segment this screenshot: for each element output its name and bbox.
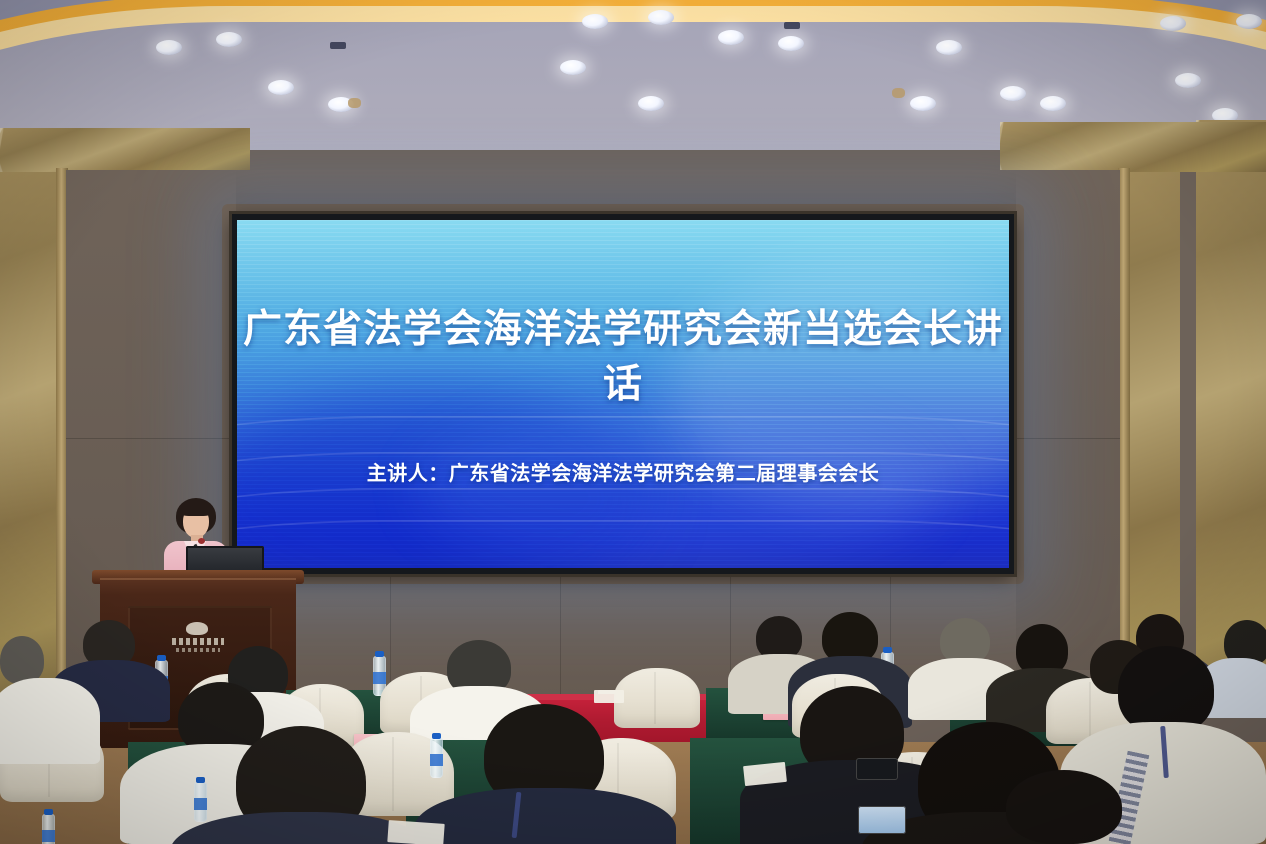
ceiling-downlight	[1000, 86, 1026, 101]
bottle-cap	[44, 809, 53, 815]
wall-panel-center-top	[236, 170, 1016, 216]
audience-head	[1118, 646, 1214, 734]
ceiling-downlight	[582, 14, 608, 29]
bottle-cap	[432, 733, 441, 739]
wall-panel-seam	[560, 572, 561, 712]
wall-panel-seam	[1012, 438, 1120, 439]
chair-cover	[614, 668, 700, 728]
smartphone[interactable]	[858, 806, 906, 834]
conference-hall-photo: 广东省法学会海洋法学研究会新当选会长讲话 主讲人：广东省法学会海洋法学研究会第二…	[0, 0, 1266, 844]
audience-head	[1006, 770, 1122, 844]
wall-panel-seam	[66, 438, 236, 439]
marble-column-left	[0, 128, 62, 712]
slide-wave-line	[237, 520, 1009, 568]
smoke-detector-icon	[348, 98, 361, 108]
podium-emblem-mark	[186, 622, 208, 635]
water-bottle[interactable]	[194, 782, 207, 822]
ceiling-downlight	[778, 36, 804, 51]
podium-emblem-text	[172, 638, 224, 645]
ceiling-speaker-icon	[784, 22, 800, 29]
ceiling-downlight	[216, 32, 242, 47]
marble-header-band-right	[1000, 122, 1266, 172]
water-bottle[interactable]	[42, 814, 55, 844]
bottle-label	[373, 672, 386, 684]
ceiling-downlight	[1160, 16, 1186, 31]
ceiling-downlight	[156, 40, 182, 55]
ceiling-downlight	[1040, 96, 1066, 111]
bottle-label	[430, 754, 443, 766]
document-sheet	[594, 690, 624, 703]
audience-head	[0, 636, 44, 684]
smoke-detector-icon	[892, 88, 905, 98]
ceiling-downlight	[638, 96, 664, 111]
document-sheet	[387, 820, 444, 844]
ceiling-downlight	[268, 80, 294, 95]
bottle-label	[194, 798, 207, 810]
water-bottle[interactable]	[430, 738, 443, 778]
presenter-fringe	[178, 501, 214, 516]
bottle-cap	[883, 647, 892, 653]
bottle-cap	[375, 651, 384, 657]
bottle-label	[42, 830, 55, 842]
bottle-cap	[196, 777, 205, 783]
ceiling-downlight	[560, 60, 586, 75]
ceiling-downlight	[648, 10, 674, 25]
bottle-cap	[157, 655, 166, 661]
ceiling-downlight	[1175, 73, 1201, 88]
ceiling-downlight	[936, 40, 962, 55]
audience-shoulders	[0, 678, 100, 764]
ceiling-speaker-icon	[330, 42, 346, 49]
ceiling-downlight	[718, 30, 744, 45]
slide-title: 广东省法学会海洋法学研究会新当选会长讲话	[237, 302, 1009, 413]
smartphone[interactable]	[856, 758, 898, 780]
slide-subtitle: 主讲人：广东省法学会海洋法学研究会第二届理事会会长	[237, 457, 1009, 486]
ceiling-downlight	[910, 96, 936, 111]
marble-header-band-left	[0, 128, 250, 172]
microphone-icon	[198, 538, 205, 544]
led-presentation-screen[interactable]: 广东省法学会海洋法学研究会新当选会长讲话 主讲人：广东省法学会海洋法学研究会第二…	[237, 220, 1009, 568]
wall-panel-right	[1012, 170, 1120, 670]
podium-emblem-icon	[172, 622, 224, 656]
ceiling-downlight	[1236, 14, 1262, 29]
podium-emblem-subtext	[176, 648, 220, 652]
